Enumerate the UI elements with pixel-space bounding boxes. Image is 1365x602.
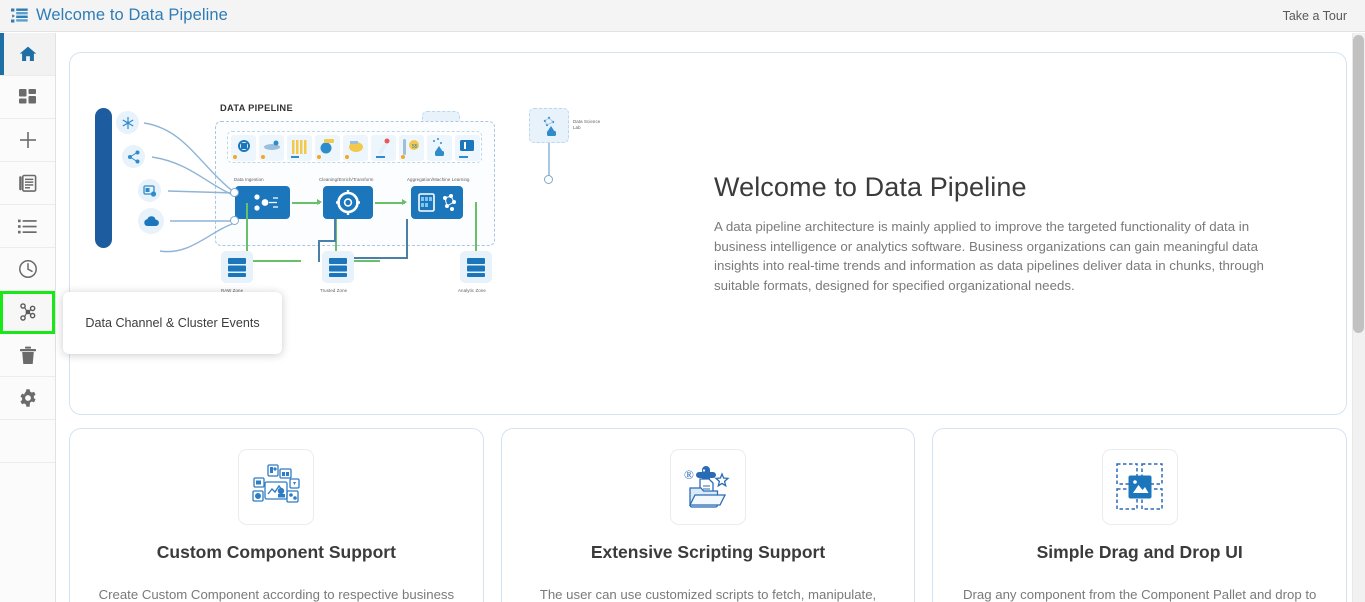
take-a-tour-button[interactable]: Take a Tour: [1283, 9, 1347, 23]
scripting-folder-icon: ®: [670, 449, 746, 525]
illustration-stage-label-1: Cleaning/Enrich/Transform: [319, 177, 374, 182]
grid-icon: [18, 88, 37, 107]
sidebar-item-spacer: [0, 420, 55, 463]
sidebar-item-trash[interactable]: [0, 334, 55, 377]
share-nodes-icon: [18, 302, 38, 322]
illustration-zone-label-1: Trusted Zone: [320, 288, 347, 293]
illustration-stage-label-2: Aggregation/Machine Learning: [407, 177, 470, 182]
sidebar-item-settings[interactable]: [0, 377, 55, 420]
illustration-label-data-science-lab: Data Science Lab: [573, 119, 603, 130]
hero-description: A data pipeline architecture is mainly a…: [714, 217, 1304, 295]
svg-text:55: 55: [412, 144, 418, 150]
feature-title: Custom Component Support: [157, 542, 396, 563]
illustration-arrow-1: [375, 202, 405, 204]
illustration-feedback-line-a: [334, 219, 336, 241]
illustration-zone-1: [322, 251, 354, 283]
sidebar: [0, 33, 56, 602]
home-icon: [18, 44, 38, 64]
sidebar-item-history[interactable]: [0, 248, 55, 291]
sidebar-item-create-new[interactable]: [0, 119, 55, 162]
illustration-arrow-0: [292, 202, 320, 204]
illustration-connector-top-2: [548, 143, 550, 177]
list-icon: [18, 219, 37, 234]
feature-card-row: Custom Component Support Create Custom C…: [69, 428, 1347, 602]
feature-card-custom-component[interactable]: Custom Component Support Create Custom C…: [69, 428, 484, 602]
illustration-zone-2: [460, 251, 492, 283]
feature-title: Simple Drag and Drop UI: [1037, 542, 1243, 563]
illustration-stage-2: [411, 186, 463, 219]
trash-icon: [19, 346, 37, 365]
feature-card-scripting[interactable]: ® Extensive Scripting Support The user c…: [501, 428, 916, 602]
plus-icon: [18, 130, 38, 150]
hero-card: Data Prep Data Science Lab DATA PIPELINE: [69, 52, 1347, 415]
header-left-group: Welcome to Data Pipeline: [0, 6, 228, 25]
feature-description: Drag any component from the Component Pa…: [933, 585, 1346, 602]
gear-icon: [18, 388, 38, 408]
vertical-scrollbar-track[interactable]: [1352, 33, 1365, 602]
feature-title: Extensive Scripting Support: [591, 542, 825, 563]
data-pipeline-illustration: Data Prep Data Science Lab DATA PIPELINE: [70, 53, 710, 414]
illustration-ingress-dot-0: [230, 188, 239, 197]
drag-drop-image-icon: [1102, 449, 1178, 525]
illustration-source-bar: [95, 108, 112, 248]
list-panel-icon: [11, 8, 28, 23]
feature-description: Create Custom Component according to res…: [70, 585, 483, 602]
feature-description: The user can use customized scripts to f…: [502, 585, 915, 602]
tooltip-label: Data Channel & Cluster Events: [85, 316, 259, 330]
sidebar-item-home[interactable]: [0, 33, 55, 76]
page-title: Welcome to Data Pipeline: [36, 6, 228, 25]
book-icon: [18, 174, 37, 193]
illustration-feedback-line-d: [406, 219, 408, 259]
hero-heading: Welcome to Data Pipeline: [714, 172, 1324, 203]
vertical-scrollbar-thumb[interactable]: [1353, 35, 1364, 333]
illustration-stage-1: [323, 186, 373, 219]
feature-card-drag-drop[interactable]: Simple Drag and Drop UI Drag any compone…: [932, 428, 1347, 602]
sidebar-item-data-channel[interactable]: [0, 291, 55, 334]
illustration-arrowhead-1: [402, 199, 407, 205]
illustration-zone-line-0b: [246, 260, 301, 262]
illustration-node-data-science-lab: [529, 108, 569, 143]
svg-text:®: ®: [684, 467, 694, 482]
illustration-component-pallet: 55: [227, 131, 482, 163]
sidebar-item-documentation[interactable]: [0, 162, 55, 205]
sidebar-tooltip: Data Channel & Cluster Events: [63, 292, 282, 354]
illustration-arrowhead-0: [317, 199, 322, 205]
sidebar-item-dashboard[interactable]: [0, 76, 55, 119]
illustration-ingress-dot-1: [230, 216, 239, 225]
clock-icon: [18, 259, 38, 279]
illustration-feedback-line-c: [318, 240, 320, 262]
app-header: Welcome to Data Pipeline Take a Tour: [0, 0, 1365, 32]
illustration-feedback-line-b: [318, 240, 336, 242]
custom-component-icon: [238, 449, 314, 525]
illustration-joint-2: [544, 175, 553, 184]
sidebar-item-list[interactable]: [0, 205, 55, 248]
illustration-zone-label-2: Analytic Zone: [458, 288, 486, 293]
hero-text-block: Welcome to Data Pipeline A data pipeline…: [710, 172, 1346, 295]
